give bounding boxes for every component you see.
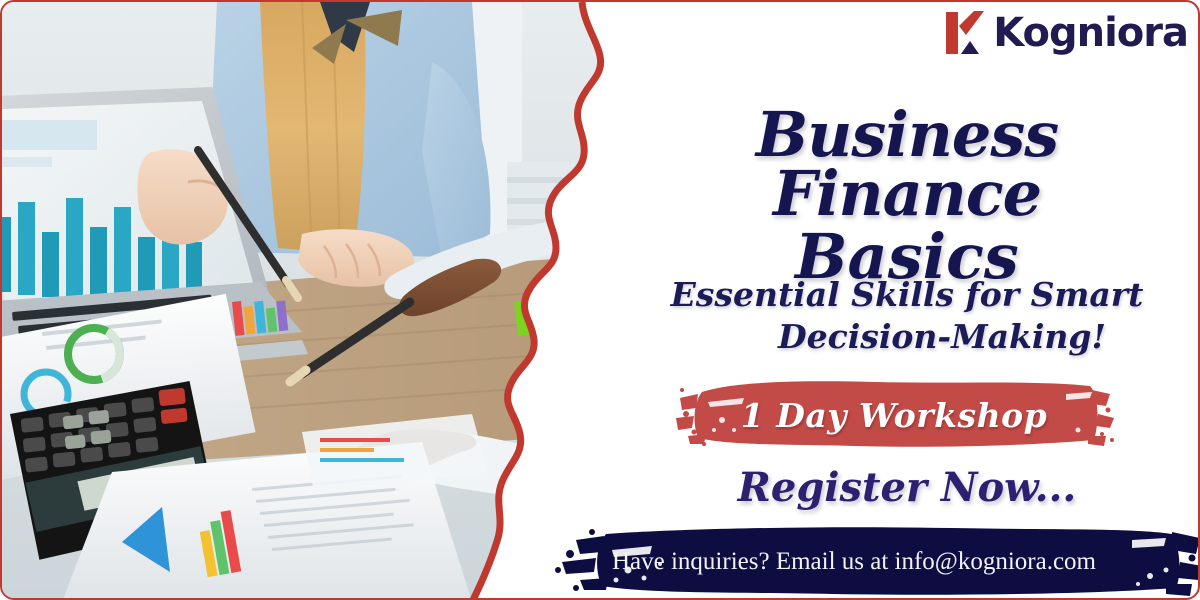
event-banner: Kogniora Business Finance Basics Essenti…	[0, 0, 1200, 600]
content-panel: Kogniora Business Finance Basics Essenti…	[612, 2, 1200, 600]
kogniora-k-logo-icon	[944, 10, 988, 56]
subtitle-line-1: Essential Skills for Smart	[671, 275, 1144, 314]
subtitle-line-2: Decision-Making!	[612, 316, 1200, 358]
hero-photo	[2, 2, 642, 600]
workshop-badge: 1 Day Workshop	[674, 374, 1114, 456]
brand-logo[interactable]: Kogniora	[944, 10, 1188, 56]
contact-bar: Have inquiries? Email us at info@kognior…	[532, 526, 1200, 598]
contact-text[interactable]: Have inquiries? Email us at info@kognior…	[532, 526, 1200, 598]
workshop-badge-label: 1 Day Workshop	[674, 374, 1114, 456]
register-cta[interactable]: Register Now...	[612, 464, 1200, 511]
page-title: Business Finance Basics	[612, 106, 1200, 287]
brand-wordmark: Kogniora	[993, 13, 1188, 53]
title-line-1: Business Finance	[612, 106, 1200, 224]
page-subtitle: Essential Skills for Smart Decision-Maki…	[612, 274, 1200, 358]
